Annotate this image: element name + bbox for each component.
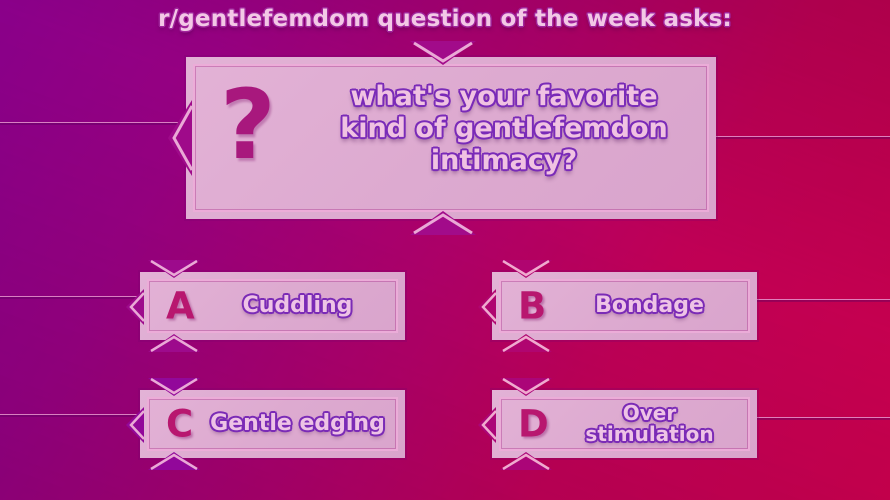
connector-line-answer-c-left — [0, 414, 145, 417]
answer-d-line-2: stimulation — [552, 424, 747, 445]
question-line-1: what's your favorite — [314, 81, 694, 113]
question-line-2: kind of gentlefemdon — [314, 113, 694, 145]
answer-c-letter: C — [166, 406, 193, 443]
connector-line-question-right — [712, 136, 890, 139]
answer-b-label: Bondage — [552, 294, 747, 318]
connector-line-answer-a-left — [0, 296, 145, 299]
slide-canvas: r/gentlefemdom question of the week asks… — [0, 0, 890, 500]
connector-line-answer-b-right — [755, 299, 890, 302]
answer-b-line-1: Bondage — [552, 294, 747, 318]
connector-line-question-left — [0, 122, 190, 125]
connector-line-answer-d-right — [755, 417, 890, 420]
answer-d-letter: D — [518, 406, 549, 443]
answer-a-label: Cuddling — [200, 294, 395, 318]
question-text: what's your favorite kind of gentlefemdo… — [314, 81, 694, 177]
answer-d-line-1: Over — [552, 403, 747, 424]
question-mark-icon: ? — [220, 77, 276, 173]
answer-b-letter: B — [518, 288, 546, 325]
answer-d-label: Over stimulation — [552, 403, 747, 445]
answer-option-d[interactable]: D Over stimulation — [492, 390, 757, 458]
answer-c-label: Gentle edging — [194, 412, 401, 436]
page-title: r/gentlefemdom question of the week asks… — [0, 6, 890, 32]
question-line-3: intimacy? — [314, 145, 694, 177]
answer-a-line-1: Cuddling — [200, 294, 395, 318]
answer-option-b[interactable]: B Bondage — [492, 272, 757, 340]
question-panel: ? what's your favorite kind of gentlefem… — [186, 57, 716, 219]
answer-option-a[interactable]: A Cuddling — [140, 272, 405, 340]
answer-option-c[interactable]: C Gentle edging — [140, 390, 405, 458]
answer-a-letter: A — [166, 288, 195, 325]
answer-c-line-1: Gentle edging — [194, 412, 401, 436]
